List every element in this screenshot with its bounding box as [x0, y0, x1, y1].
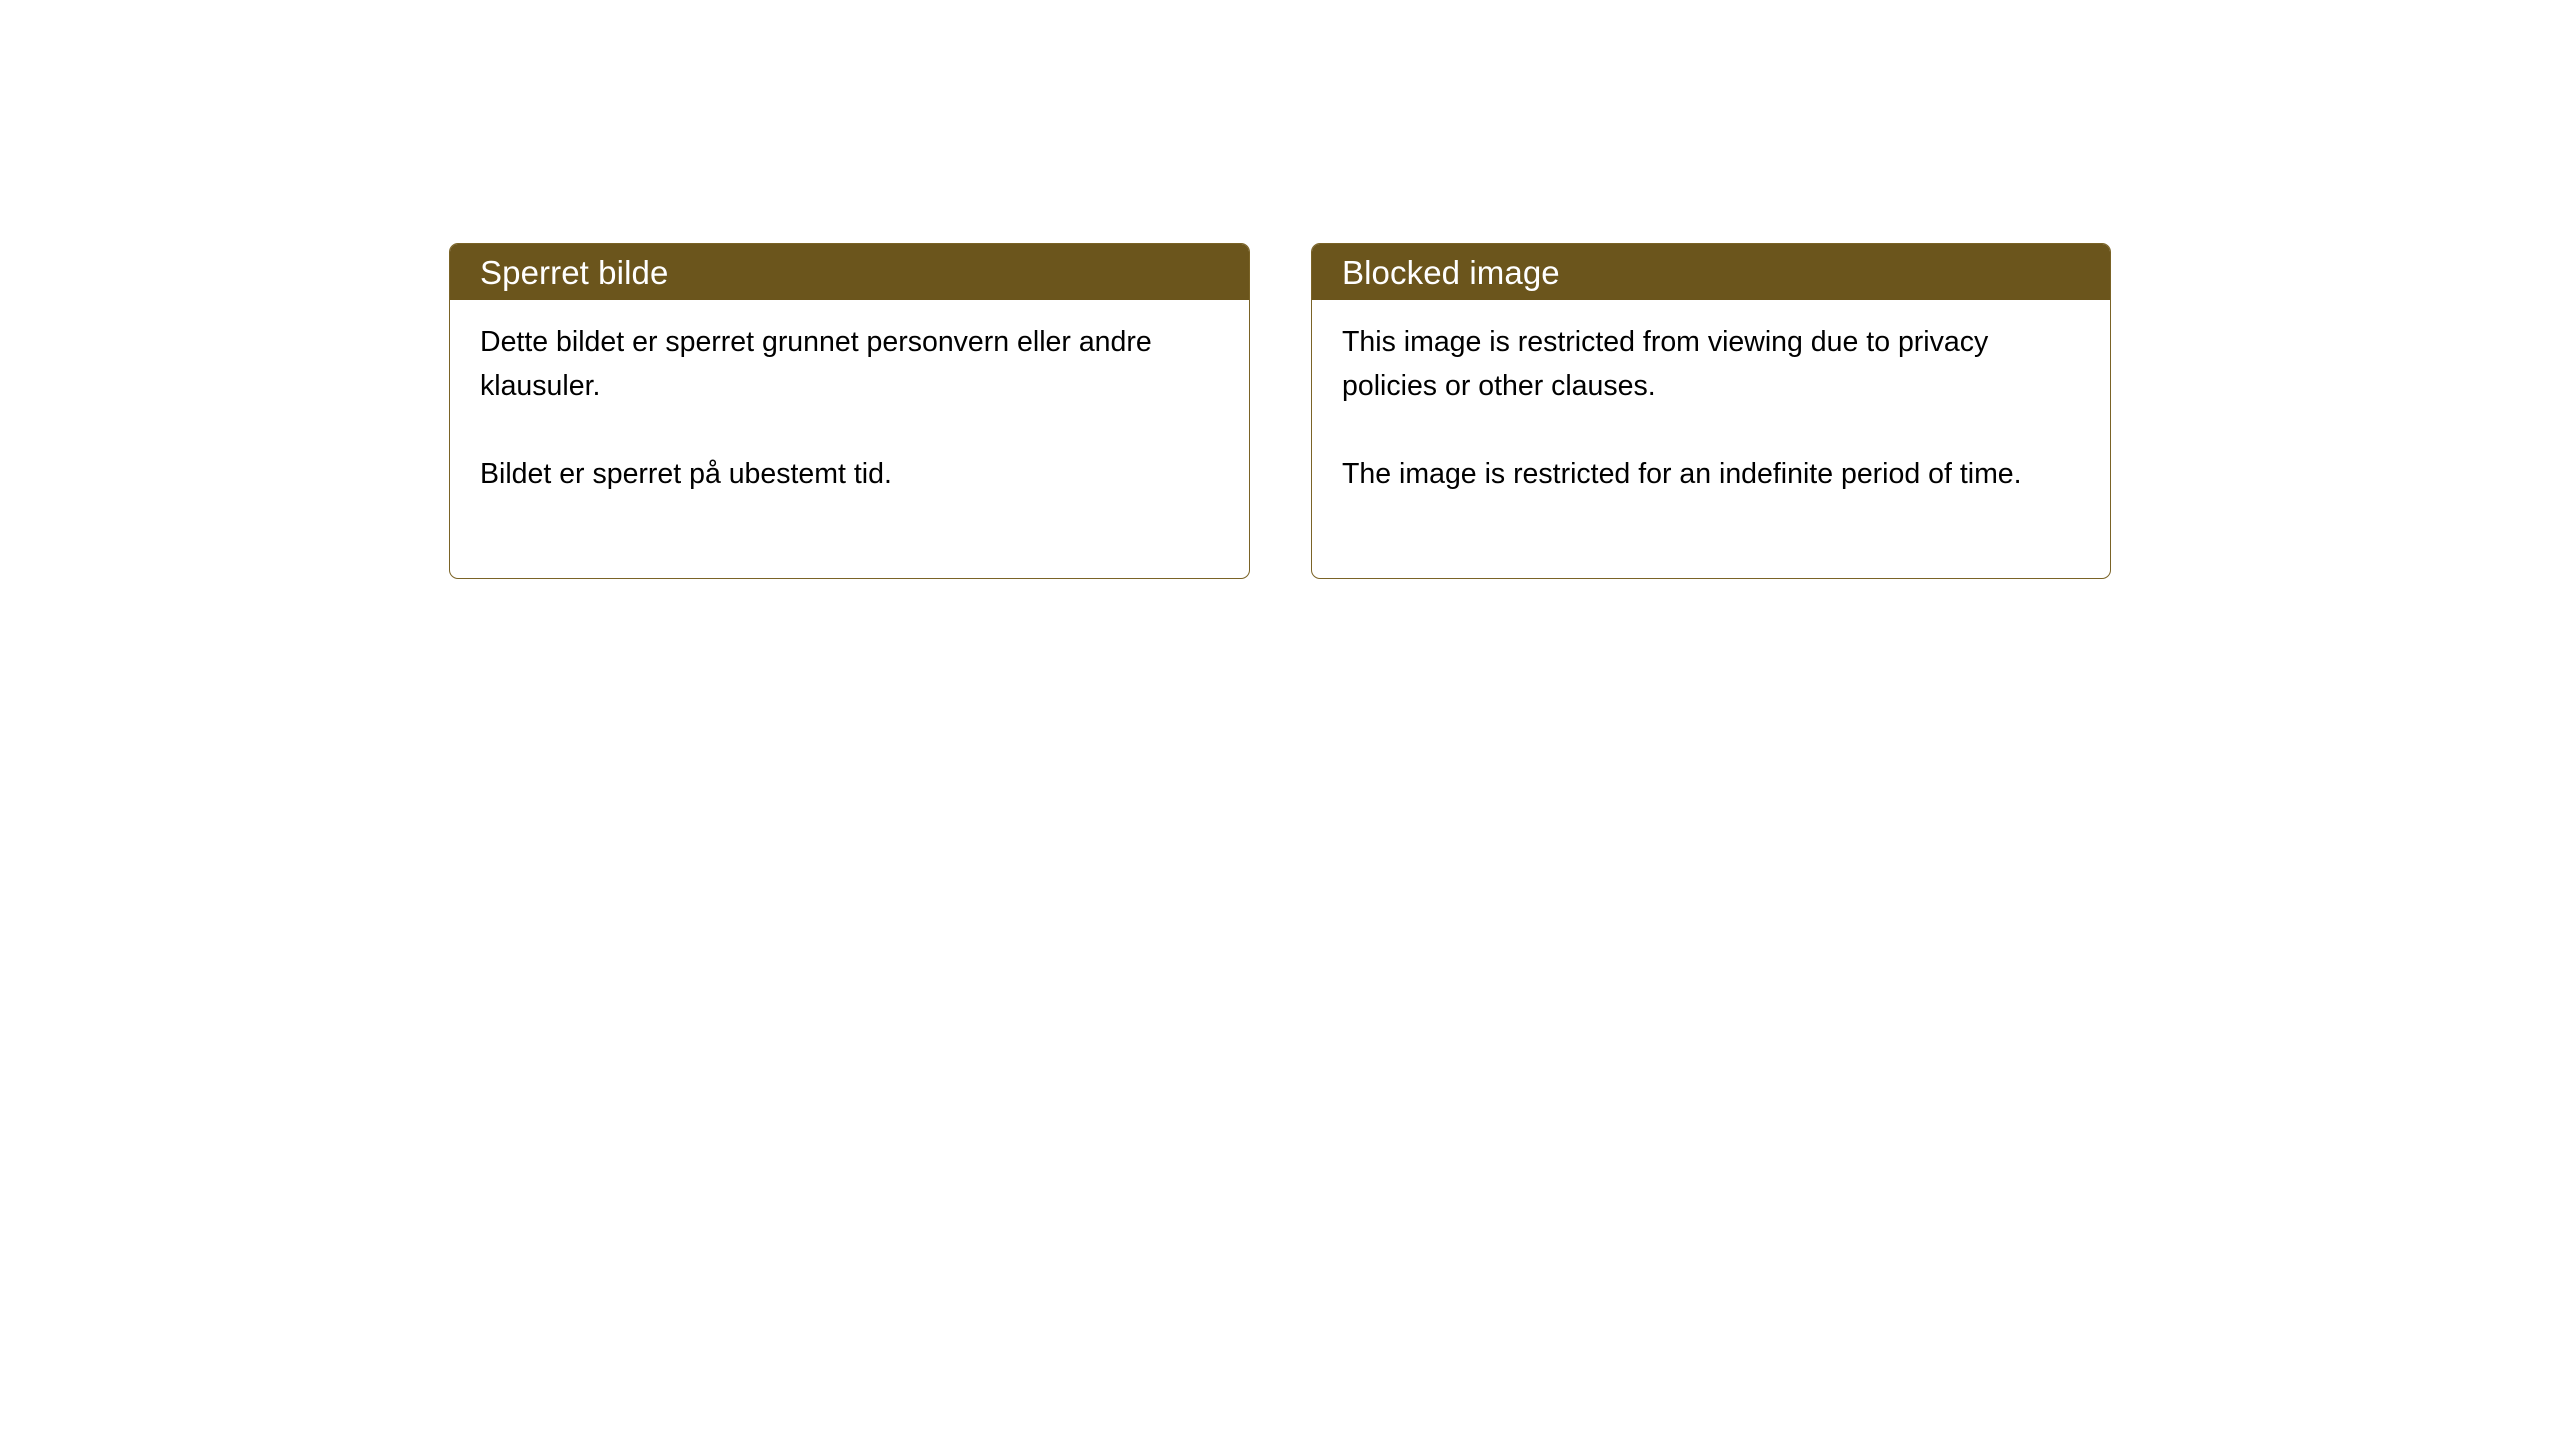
- notice-title-norwegian: Sperret bilde: [480, 256, 668, 289]
- notice-paragraph-duration-norwegian: Bildet er sperret på ubestemt tid.: [480, 452, 1180, 496]
- notice-paragraph-reason-norwegian: Dette bildet er sperret grunnet personve…: [480, 320, 1180, 408]
- notice-body-english: This image is restricted from viewing du…: [1312, 300, 2110, 496]
- notice-body-norwegian: Dette bildet er sperret grunnet personve…: [450, 300, 1249, 496]
- notice-title-english: Blocked image: [1342, 256, 1560, 289]
- notice-paragraph-duration-english: The image is restricted for an indefinit…: [1342, 452, 2042, 496]
- blocked-image-notice-card-norwegian: Sperret bilde Dette bildet er sperret gr…: [449, 243, 1250, 579]
- page-canvas: Sperret bilde Dette bildet er sperret gr…: [0, 0, 2560, 1440]
- notice-paragraph-reason-english: This image is restricted from viewing du…: [1342, 320, 2042, 408]
- notice-header-norwegian: Sperret bilde: [450, 244, 1249, 300]
- blocked-image-notice-card-english: Blocked image This image is restricted f…: [1311, 243, 2111, 579]
- notice-header-english: Blocked image: [1312, 244, 2110, 300]
